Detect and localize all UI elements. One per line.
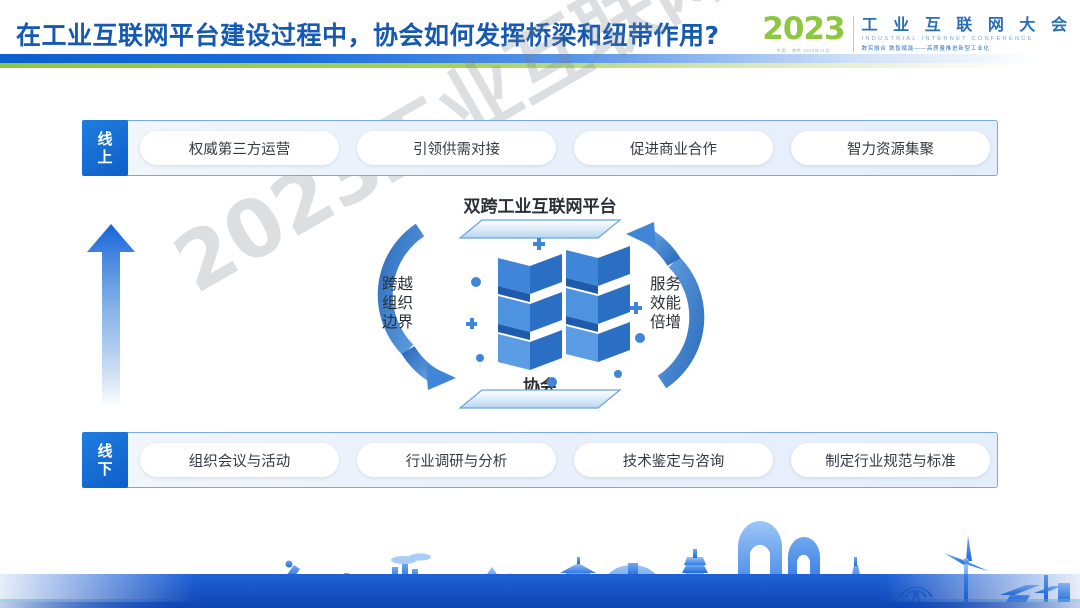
page-title: 在工业互联网平台建设过程中，协会如何发挥桥梁和纽带作用? (16, 16, 720, 52)
logo-year: 2023 (762, 14, 844, 45)
offline-pill-4[interactable]: 制定行业规范与标准 (791, 443, 990, 477)
online-tag-line2: 上 (97, 148, 112, 166)
offline-pill-group: 组织会议与活动 行业调研与分析 技术鉴定与咨询 制定行业规范与标准 (140, 432, 990, 488)
left-cycle-label: 跨越 组织 边界 (382, 275, 413, 333)
offline-tag-line2: 下 (97, 460, 112, 478)
logo-divider (853, 16, 854, 52)
right-cycle-label: 服务 效能 倍增 (650, 275, 681, 333)
left-cycle-label-line3: 边界 (382, 313, 413, 332)
online-tag-line1: 线 (97, 130, 112, 148)
logo-tagline: 数实融合 数智赋能——高质量推进新型工业化 (862, 44, 1072, 52)
online-row-tag: 线 上 (82, 120, 128, 176)
conference-logo: 2023 中国 · 南京 2023年11月 工 业 互 联 网 大 会 INDU… (762, 12, 1072, 56)
logo-year-block: 2023 中国 · 南京 2023年11月 (762, 14, 844, 54)
center-diagram: 双跨工业互联网平台 协会 (330, 190, 750, 422)
online-pill-1[interactable]: 权威第三方运营 (140, 131, 339, 165)
right-cycle-label-line2: 效能 (650, 294, 681, 313)
online-pill-2[interactable]: 引领供需对接 (357, 131, 556, 165)
left-cycle-label-line2: 组织 (382, 294, 413, 313)
right-cycle-label-line3: 倍增 (650, 313, 681, 332)
header-rule-blue (0, 54, 1040, 63)
logo-text-block: 工 业 互 联 网 大 会 INDUSTRIAL INTERNET CONFER… (862, 16, 1072, 52)
association-slab-icon (460, 390, 620, 408)
platform-slab-icon (460, 220, 620, 238)
header-rule-green (0, 63, 1020, 68)
logo-name-cn: 工 业 互 联 网 大 会 (862, 16, 1072, 34)
online-pill-group: 权威第三方运营 引领供需对接 促进商业合作 智力资源集聚 (140, 120, 990, 176)
offline-pill-2[interactable]: 行业调研与分析 (357, 443, 556, 477)
online-pill-4[interactable]: 智力资源集聚 (791, 131, 990, 165)
left-cycle-label-line1: 跨越 (382, 275, 413, 294)
right-cycle-label-line1: 服务 (650, 275, 681, 294)
footer-ground-band (0, 574, 1080, 608)
slide-canvas: 在工业互联网平台建设过程中，协会如何发挥桥梁和纽带作用? 2023 中国 · 南… (0, 0, 1080, 608)
logo-name-en: INDUSTRIAL INTERNET CONFERENCE (862, 36, 1072, 42)
online-pill-3[interactable]: 促进商业合作 (574, 131, 773, 165)
offline-pill-1[interactable]: 组织会议与活动 (140, 443, 339, 477)
offline-tag-line1: 线 (97, 442, 112, 460)
platform-cube-icon (466, 238, 645, 387)
offline-pill-3[interactable]: 技术鉴定与咨询 (574, 443, 773, 477)
offline-row-tag: 线 下 (82, 432, 128, 488)
up-arrow-icon (85, 222, 137, 407)
